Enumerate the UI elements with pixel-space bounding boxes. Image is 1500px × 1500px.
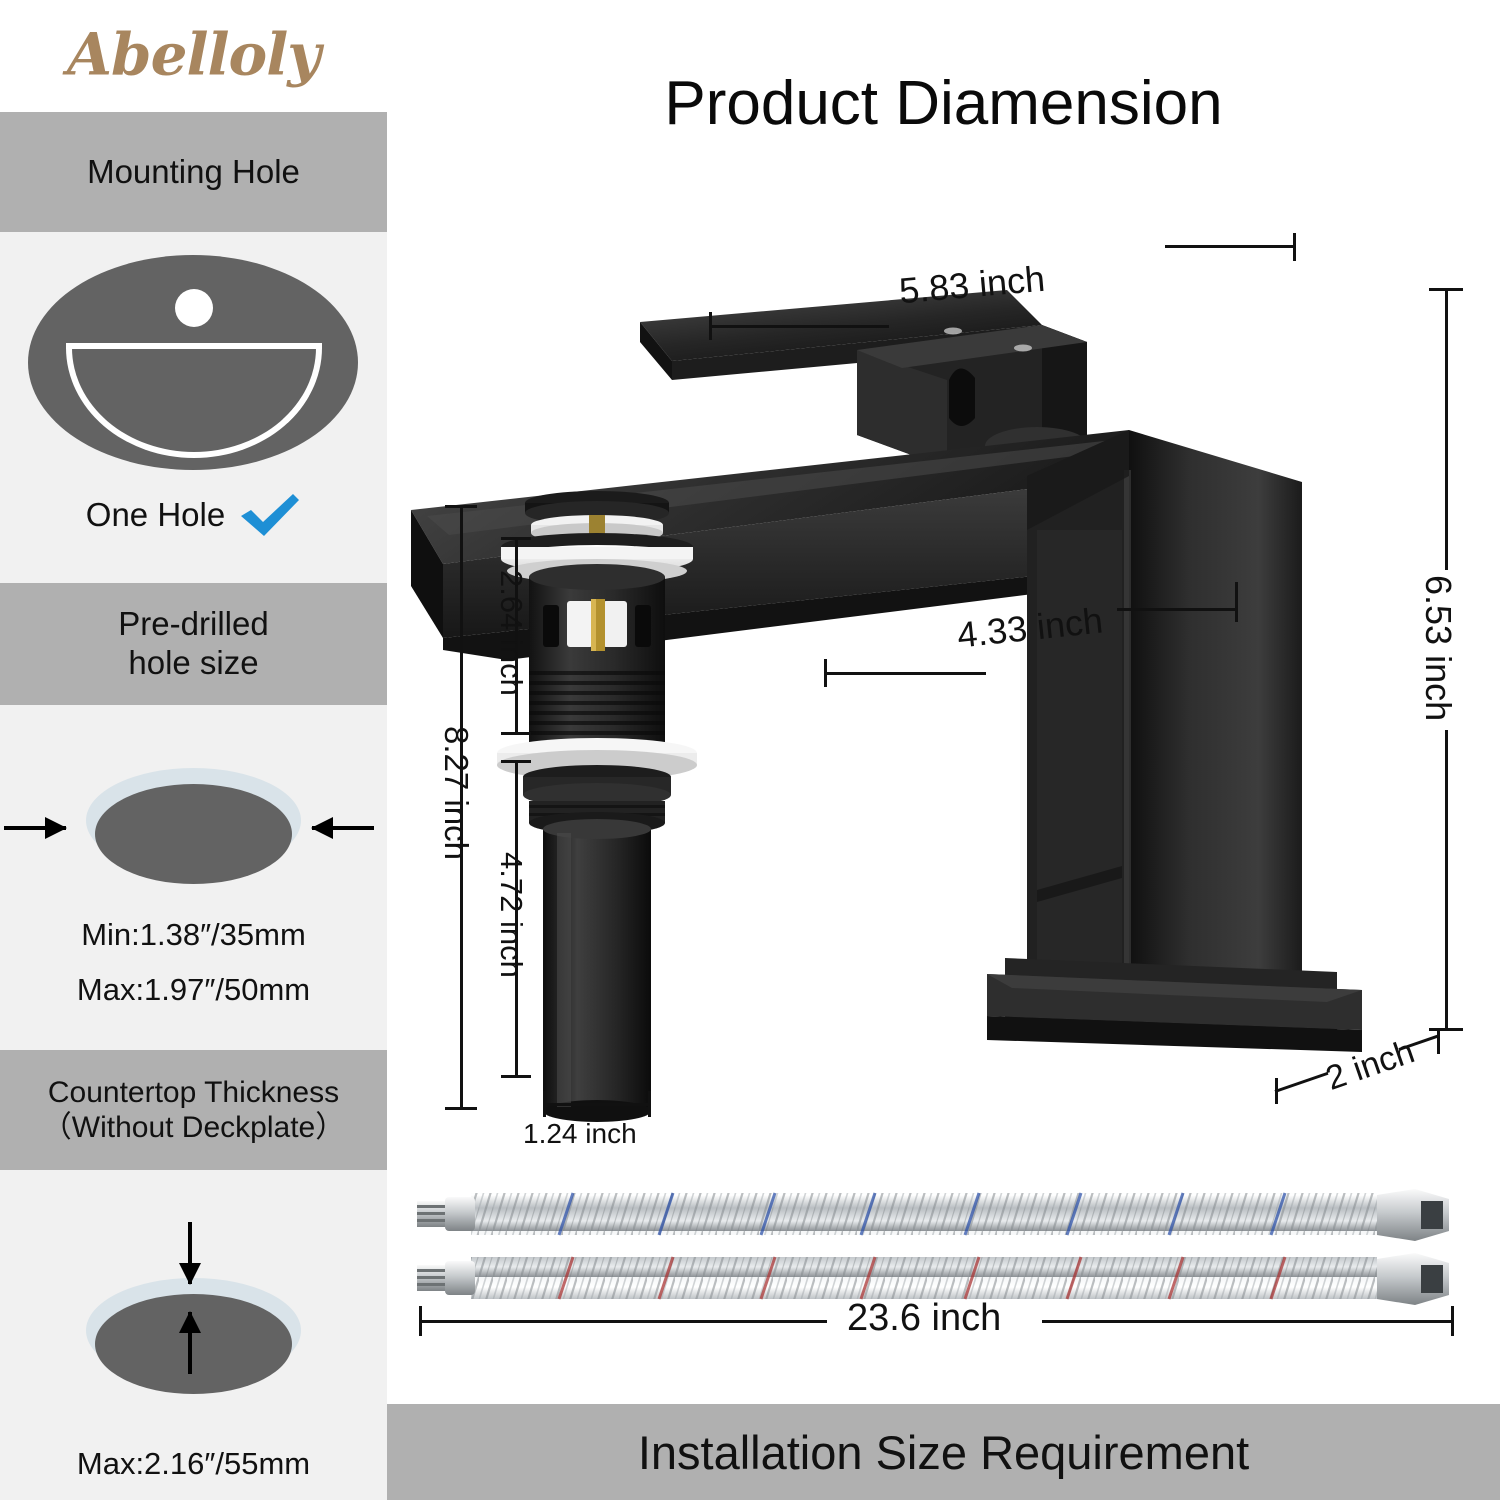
predrilled-hole-graphic xyxy=(86,768,301,888)
product-dimension-infographic: Abelloly Mounting Hole One Hole Pre-dril… xyxy=(0,0,1500,1500)
dim-line-4-33-right xyxy=(1117,608,1237,611)
dim-line-1-24 xyxy=(543,1103,651,1106)
section-heading-mounting-hole: Mounting Hole xyxy=(0,112,387,232)
dim-tick-4-33-left xyxy=(824,659,827,687)
one-hole-label: One Hole xyxy=(86,496,225,534)
dim-tick-6-53-top xyxy=(1429,288,1463,291)
countertop-line2: （Without Deckplate） xyxy=(42,1110,345,1145)
brand-logo-text: Abelloly xyxy=(67,21,320,89)
dim-line-5-83-right xyxy=(1165,245,1295,248)
dim-tick-1-24-left xyxy=(543,1091,546,1117)
hole-bore-ellipse xyxy=(95,784,292,884)
dim-line-4-33-left xyxy=(824,672,986,675)
countertop-max-value: Max:2.16″/55mm xyxy=(0,1446,387,1482)
drain-overflow-body xyxy=(529,564,665,665)
predrilled-line1: Pre-drilled xyxy=(118,605,268,644)
blue-check-icon xyxy=(239,492,301,538)
dim-label-drain-top-section: 2.64 inch xyxy=(493,570,529,696)
brand-logo: Abelloly xyxy=(0,0,387,112)
dim-tick-8-27-bottom xyxy=(445,1107,477,1110)
dim-label-overall-height: 6.53 inch xyxy=(1417,575,1459,721)
dim-label-drain-diameter: 1.24 inch xyxy=(523,1118,637,1150)
hole-size-arrow-right xyxy=(312,826,374,830)
dim-tick-2inch-left xyxy=(1275,1078,1278,1104)
dim-tick-8-27-top xyxy=(445,505,477,508)
dim-tick-5-83-right xyxy=(1293,233,1296,261)
countertop-line1: Countertop Thickness xyxy=(42,1075,345,1110)
section-heading-countertop-thickness: Countertop Thickness （Without Deckplate） xyxy=(0,1050,387,1170)
predrilled-max-value: Max:1.97″/50mm xyxy=(0,972,387,1008)
dim-label-drain-total: 8.27 inch xyxy=(437,726,475,860)
countertop-thickness-graphic xyxy=(86,1278,301,1398)
dim-label-drain-tube: 4.72 inch xyxy=(493,852,529,978)
thickness-arrow-down xyxy=(188,1222,192,1284)
drain-tailpiece-tube xyxy=(543,819,651,1122)
thickness-arrow-up xyxy=(188,1312,192,1374)
dim-tick-2inch-right xyxy=(1437,1028,1440,1054)
dim-tick-2-64-bottom xyxy=(501,732,531,735)
dim-tick-4-33-right xyxy=(1235,582,1238,622)
main-panel: Product Diamension xyxy=(387,0,1500,1500)
footer-banner: Installation Size Requirement xyxy=(387,1404,1500,1500)
sidebar: Abelloly Mounting Hole One Hole Pre-dril… xyxy=(0,0,387,1500)
dim-tick-2-64-top xyxy=(501,537,531,540)
one-hole-caption-row: One Hole xyxy=(0,492,387,538)
dim-tick-4-72-top xyxy=(501,760,531,763)
footer-label: Installation Size Requirement xyxy=(638,1425,1249,1480)
dim-tick-4-72-bottom xyxy=(501,1075,531,1078)
dim-tick-6-53-bottom xyxy=(1429,1028,1463,1031)
supply-hoses-illustration xyxy=(409,1185,1489,1315)
page-title: Product Diamension xyxy=(387,68,1500,139)
dim-line-23-6-right xyxy=(1042,1320,1454,1323)
faucet-body-column xyxy=(1027,430,1302,990)
predrilled-min-value: Min:1.38″/35mm xyxy=(0,917,387,953)
supply-hose-1 xyxy=(417,1189,1449,1241)
sink-mounting-hole-icon xyxy=(175,289,213,327)
mounting-hole-label: Mounting Hole xyxy=(87,153,300,192)
section-heading-predrilled-hole-size: Pre-drilled hole size xyxy=(0,583,387,705)
dim-tick-23-6-right xyxy=(1451,1306,1454,1336)
sink-top-view-graphic xyxy=(0,245,387,485)
dim-tick-1-24-right xyxy=(648,1091,651,1117)
predrilled-line2: hole size xyxy=(118,644,268,683)
dim-tick-23-6-left xyxy=(419,1306,422,1336)
faucet-base xyxy=(987,958,1362,1052)
dim-tick-5-83-left xyxy=(709,312,712,340)
thickness-bore-ellipse xyxy=(95,1294,292,1394)
dim-line-6-53-upper xyxy=(1445,288,1448,570)
hole-size-arrow-left xyxy=(4,826,66,830)
dim-line-5-83-left xyxy=(709,325,889,328)
dim-line-23-6-left xyxy=(419,1320,827,1323)
dim-label-hose-length: 23.6 inch xyxy=(847,1297,1001,1340)
dim-line-6-53-lower xyxy=(1445,730,1448,1030)
